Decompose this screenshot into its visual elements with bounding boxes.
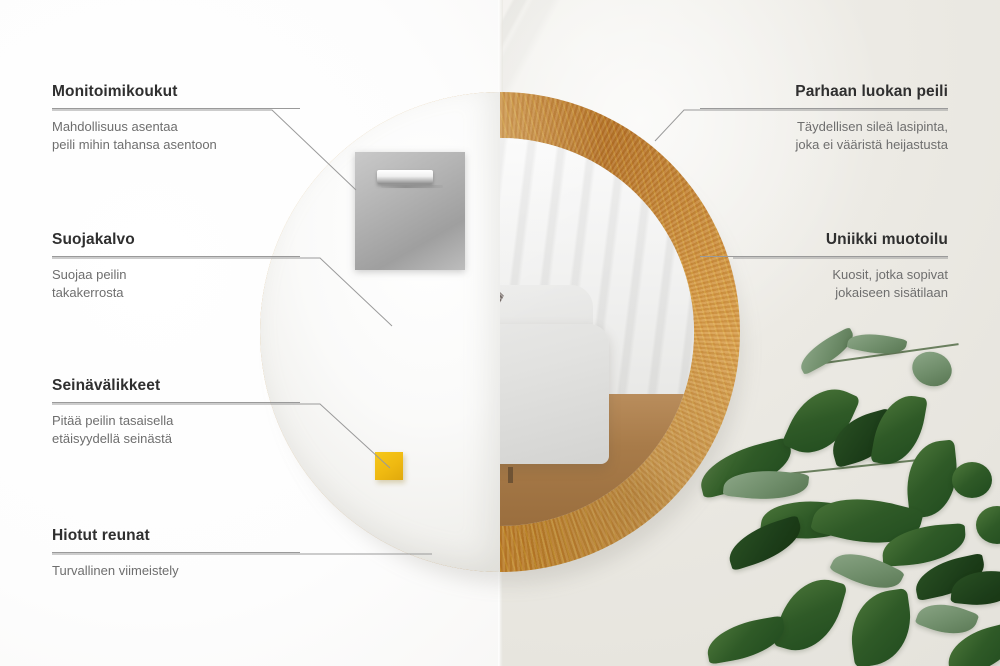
- leaf: [703, 615, 788, 664]
- callout-title: Seinävälikkeet: [52, 377, 300, 395]
- callout-multifunction-hooks: Monitoimikoukut Mahdollisuus asentaa pei…: [52, 83, 300, 155]
- leaf: [845, 588, 916, 666]
- callout-rule: [52, 552, 300, 553]
- callout-description: Suojaa peilin takakerrosta: [52, 266, 300, 303]
- callout-title: Monitoimikoukut: [52, 83, 300, 101]
- hook-slot: [377, 170, 433, 184]
- callout-rule: [700, 256, 948, 257]
- wall-spacer-block: [375, 452, 403, 480]
- mounting-hook-plate: [355, 152, 465, 270]
- callout-wall-spacers: Seinävälikkeet Pitää peilin tasaisella e…: [52, 377, 300, 449]
- callout-title: Suojakalvo: [52, 231, 300, 249]
- leaf: [908, 347, 957, 392]
- callout-title: Hiotut reunat: [52, 527, 300, 545]
- callout-description: Täydellisen sileä lasipinta, joka ei vää…: [700, 118, 948, 155]
- leaf: [976, 506, 1000, 544]
- callout-rule: [52, 402, 300, 403]
- callout-description: Pitää peilin tasaisella etäisyydellä sei…: [52, 412, 300, 449]
- callout-premium-mirror: Parhaan luokan peili Täydellisen sileä l…: [700, 83, 948, 155]
- leaf: [794, 327, 859, 376]
- callout-title: Uniikki muotoilu: [700, 231, 948, 249]
- callout-title: Parhaan luokan peili: [700, 83, 948, 101]
- callout-description: Mahdollisuus asentaa peili mihin tahansa…: [52, 118, 300, 155]
- callout-protective-film: Suojakalvo Suojaa peilin takakerrosta: [52, 231, 300, 303]
- hook-slot-shadow: [381, 185, 443, 188]
- callout-rule: [52, 108, 300, 109]
- leaf: [772, 570, 847, 660]
- infographic-canvas: Monitoimikoukut Mahdollisuus asentaa pei…: [0, 0, 1000, 666]
- callout-rule: [52, 256, 300, 257]
- leaf: [952, 462, 992, 498]
- callout-rule: [700, 108, 948, 109]
- callout-unique-design: Uniikki muotoilu Kuosit, jotka sopivat j…: [700, 231, 948, 303]
- callout-polished-edges: Hiotut reunat Turvallinen viimeistely: [52, 527, 300, 580]
- callout-description: Kuosit, jotka sopivat jokaiseen sisätila…: [700, 266, 948, 303]
- round-mirror-product: [260, 92, 740, 572]
- callout-description: Turvallinen viimeistely: [52, 562, 300, 580]
